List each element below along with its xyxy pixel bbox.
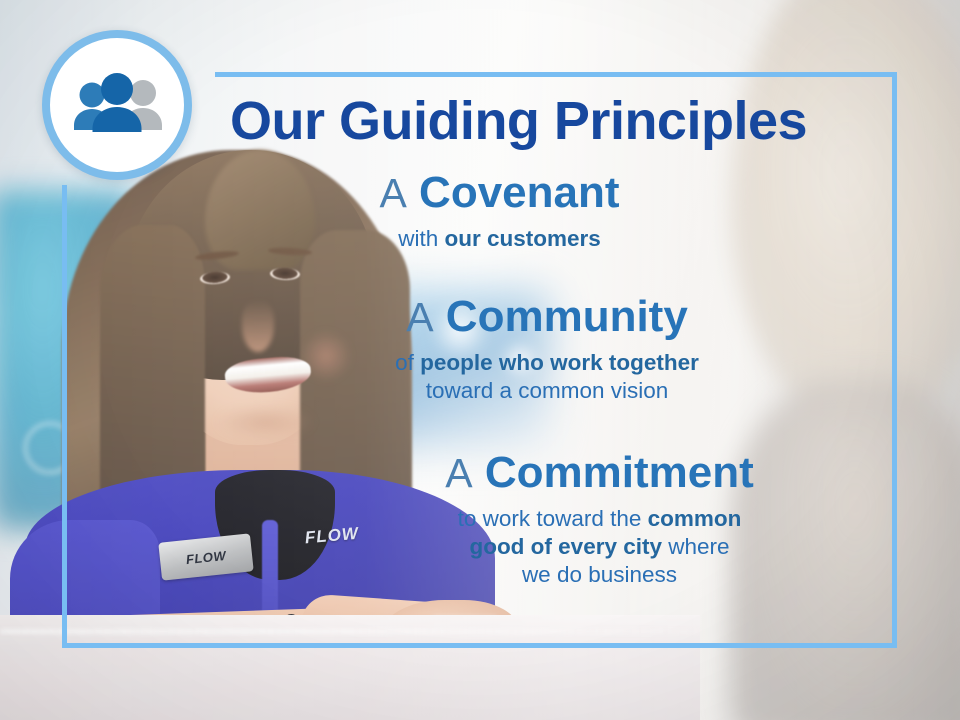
principle-lead: A <box>406 294 433 340</box>
principle-commitment: A Commitment to work toward the commongo… <box>62 450 897 590</box>
principle-heading: A Commitment <box>302 450 897 497</box>
principle-heading: A Covenant <box>102 170 897 217</box>
principle-lead: A <box>445 450 472 496</box>
principle-body: of people who work togethertoward a comm… <box>197 349 897 406</box>
principle-heading: A Community <box>197 294 897 341</box>
principle-keyword: Covenant <box>419 168 619 217</box>
principle-lead: A <box>379 170 406 216</box>
principle-covenant: A Covenant with our customers <box>62 170 897 253</box>
principle-keyword: Community <box>446 292 688 341</box>
guiding-principles-graphic: FLOW FLOW Our Guiding Principles <box>0 0 960 720</box>
principle-body: to work toward the commongood of every c… <box>302 505 897 590</box>
text-content: Our Guiding Principles A Covenant with o… <box>62 72 897 648</box>
principle-community: A Community of people who work togethert… <box>62 294 897 405</box>
principle-keyword: Commitment <box>485 448 754 497</box>
page-title: Our Guiding Principles <box>62 94 897 148</box>
principle-body: with our customers <box>102 225 897 253</box>
